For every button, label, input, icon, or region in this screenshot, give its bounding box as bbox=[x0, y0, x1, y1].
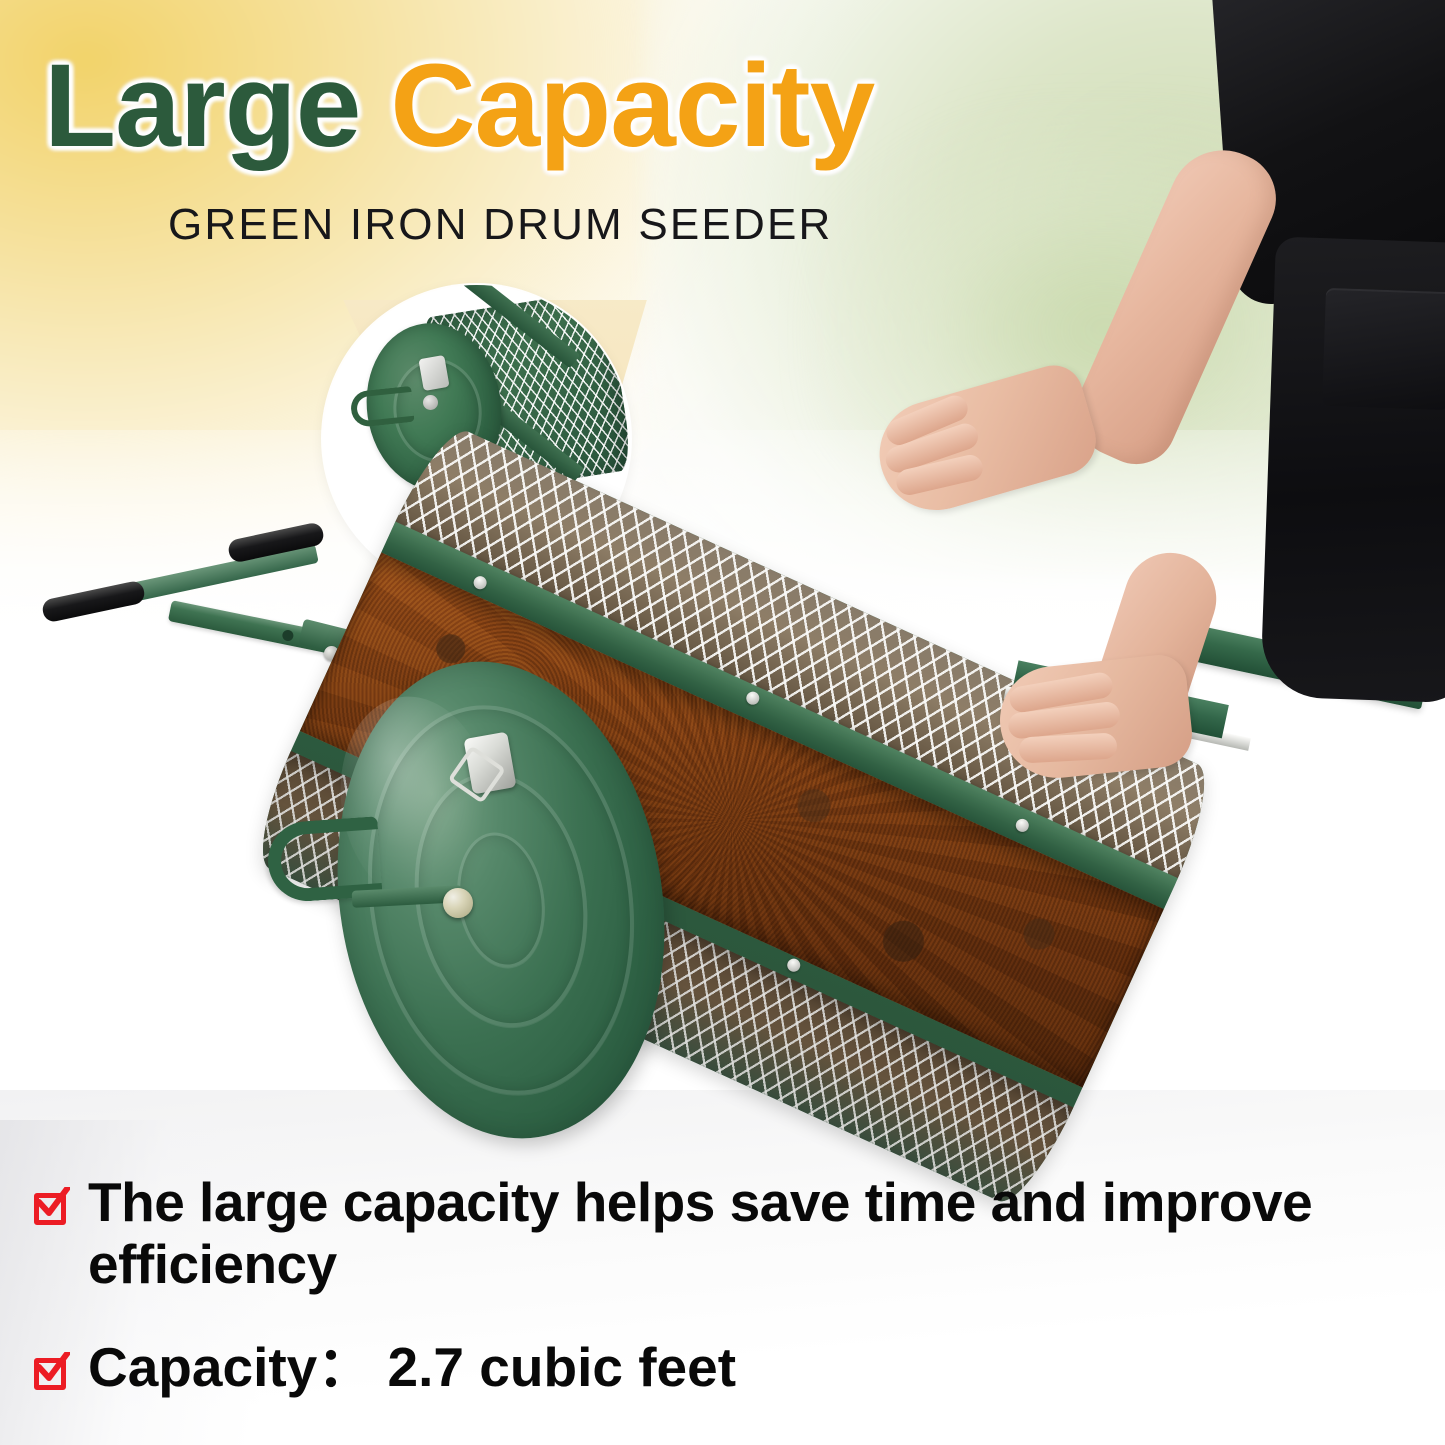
checkmark-icon bbox=[36, 1352, 70, 1384]
product-marketing-image: LargeCapacity GREEN IRON DRUM SEEDER bbox=[0, 0, 1445, 1445]
person-upper-arm bbox=[1061, 133, 1290, 477]
end-cap-center-bolt-icon bbox=[443, 888, 473, 918]
list-item-label: The large capacity helps save time and i… bbox=[88, 1172, 1445, 1295]
red-checkbox-icon bbox=[30, 1185, 70, 1225]
handle-grip-left bbox=[41, 580, 147, 624]
person-holding-seeder bbox=[1118, 0, 1445, 890]
list-item: The large capacity helps save time and i… bbox=[0, 1172, 1445, 1295]
list-item: Capacity： 2.7 cubic feet bbox=[0, 1337, 1445, 1399]
end-cap-latch-icon bbox=[463, 732, 516, 795]
red-checkbox-icon bbox=[30, 1350, 70, 1390]
checkmark-icon bbox=[36, 1187, 70, 1219]
person-apron-pocket bbox=[1322, 288, 1445, 410]
finger bbox=[1018, 732, 1117, 763]
feature-list: The large capacity helps save time and i… bbox=[0, 1172, 1445, 1419]
list-item-label: Capacity： 2.7 cubic feet bbox=[88, 1337, 736, 1399]
handle-crossbar bbox=[115, 544, 318, 605]
